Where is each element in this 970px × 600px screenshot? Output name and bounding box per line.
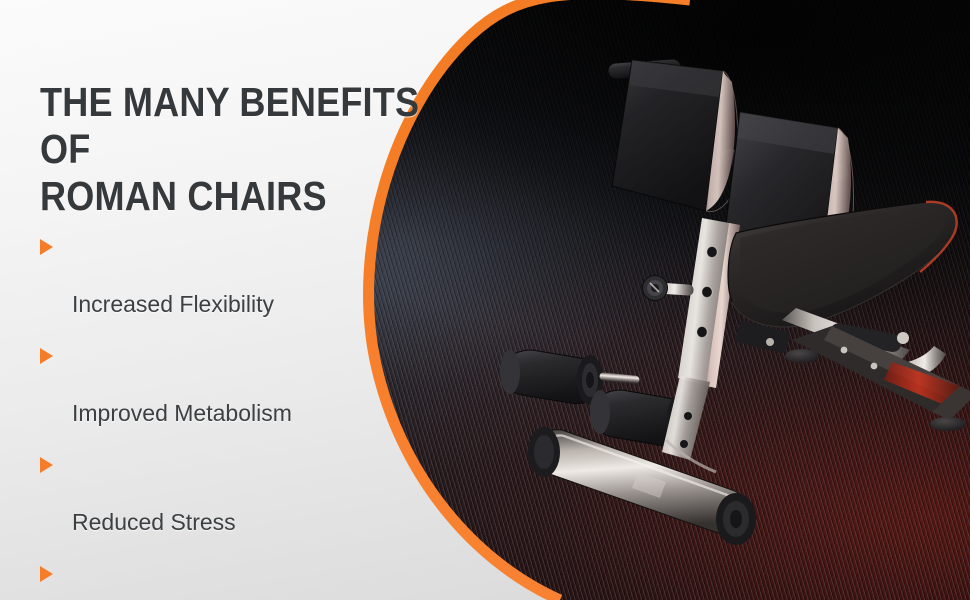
headline-line-2: ROMAN CHAIRS [40, 173, 327, 219]
headline-line-1: THE MANY BENEFITS OF [40, 79, 419, 172]
benefit-label: Improved Metabolism [72, 400, 292, 426]
benefit-label: Increased Flexibility [72, 291, 274, 317]
list-item: Improved Metabolism [40, 341, 370, 428]
triangle-right-icon [40, 457, 53, 473]
stabilizer-end-cap-right [716, 493, 756, 545]
benefit-label: Reduced Stress [72, 509, 236, 535]
benefits-list: Increased Flexibility Improved Metabolis… [40, 232, 370, 600]
list-item: Reduced Stress [40, 450, 370, 537]
triangle-right-icon [40, 348, 53, 364]
adjustment-knob [643, 276, 694, 301]
benefits-banner: THE MANY BENEFITS OF ROMAN CHAIRS Increa… [0, 0, 970, 600]
chrome-stabilizer-bar [528, 427, 756, 545]
lower-frame-link [662, 376, 716, 472]
list-item: Increased Flexibility [40, 232, 370, 319]
list-item: Relieved Lower Back Pain [40, 559, 370, 600]
triangle-right-icon [40, 566, 53, 582]
upright-post [678, 218, 740, 388]
back-pad-upper [612, 60, 738, 212]
page-title: THE MANY BENEFITS OF ROMAN CHAIRS [40, 79, 454, 220]
roman-chair-product [440, 20, 970, 600]
stabilizer-end-cap-left [528, 427, 560, 477]
triangle-right-icon [40, 239, 53, 255]
